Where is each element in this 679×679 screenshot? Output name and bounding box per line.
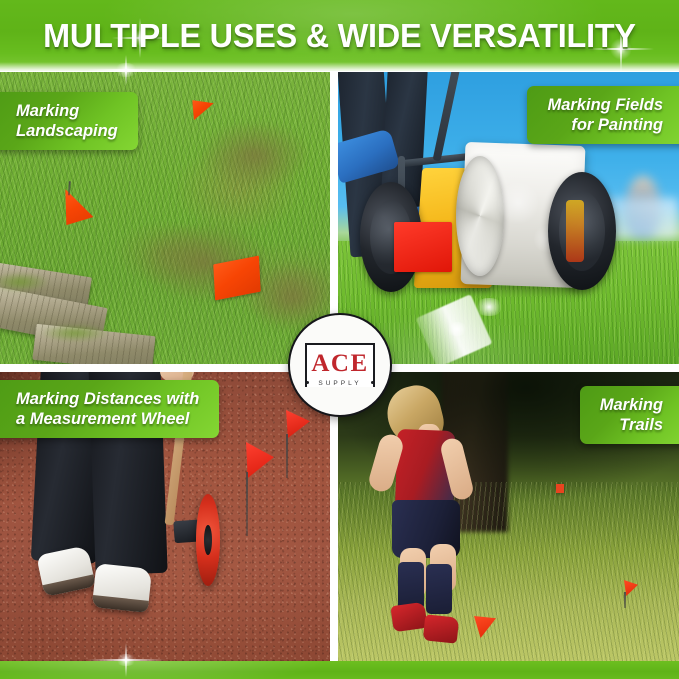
marking-flag xyxy=(474,616,496,638)
panel-marking-landscaping: Marking Landscaping xyxy=(0,72,330,364)
badge-line-1: Marking xyxy=(600,395,663,415)
walker-sneaker xyxy=(92,563,152,613)
drum-cap xyxy=(456,156,504,276)
wheel-hub-accent xyxy=(566,200,584,262)
runner-shoe xyxy=(390,602,427,632)
footer-banner xyxy=(0,661,679,679)
badge-measurement-wheel: Marking Distances with a Measurement Whe… xyxy=(0,380,219,438)
page-title: MULTIPLE USES & WIDE VERSATILITY xyxy=(7,0,672,71)
badge-line-2: Trails xyxy=(619,415,663,435)
badge-line-1: Marking xyxy=(16,101,79,121)
machine-handle-upper xyxy=(433,72,468,161)
header-banner: MULTIPLE USES & WIDE VERSATILITY xyxy=(0,0,679,71)
badge-line-2: for Painting xyxy=(571,115,663,135)
badge-line-1: Marking Distances with xyxy=(16,389,199,409)
brand-logo: ACE SUPPLY xyxy=(288,313,392,417)
grass-texture xyxy=(338,482,679,662)
runner-sock xyxy=(426,564,452,614)
paint-splatter xyxy=(474,298,504,316)
marking-flag xyxy=(624,580,638,596)
logo-circle: ACE SUPPLY xyxy=(288,313,392,417)
badge-marking-trails: Marking Trails xyxy=(580,386,679,444)
marking-flag xyxy=(556,484,564,493)
marking-flag xyxy=(63,189,95,227)
measuring-wheel xyxy=(196,494,220,586)
wood-moss xyxy=(40,324,110,342)
logo-dot-right-icon xyxy=(371,381,374,384)
product-infographic: MULTIPLE USES & WIDE VERSATILITY xyxy=(0,0,679,679)
wood-moss xyxy=(0,272,50,292)
panel-measurement-wheel: Marking Distances with a Measurement Whe… xyxy=(0,372,330,662)
paint-splatter xyxy=(446,322,468,336)
paint-splatter xyxy=(498,180,538,226)
badge-line-1: Marking Fields xyxy=(547,95,663,115)
badge-marking-fields: Marking Fields for Painting xyxy=(527,86,679,144)
footer-sheen xyxy=(0,661,679,679)
logo-frame: ACE SUPPLY xyxy=(305,343,375,387)
badge-line-2: a Measurement Wheel xyxy=(16,409,189,429)
marking-flag xyxy=(246,442,274,478)
logo-dot-left-icon xyxy=(306,381,309,384)
runner-shoe xyxy=(423,614,460,643)
marking-flag xyxy=(394,222,452,272)
dirt-patch xyxy=(200,120,310,190)
logo-wordmark: ACE xyxy=(311,351,368,376)
badge-marking-landscaping: Marking Landscaping xyxy=(0,92,138,150)
badge-line-2: Landscaping xyxy=(16,121,118,141)
logo-tagline: SUPPLY xyxy=(307,381,373,388)
